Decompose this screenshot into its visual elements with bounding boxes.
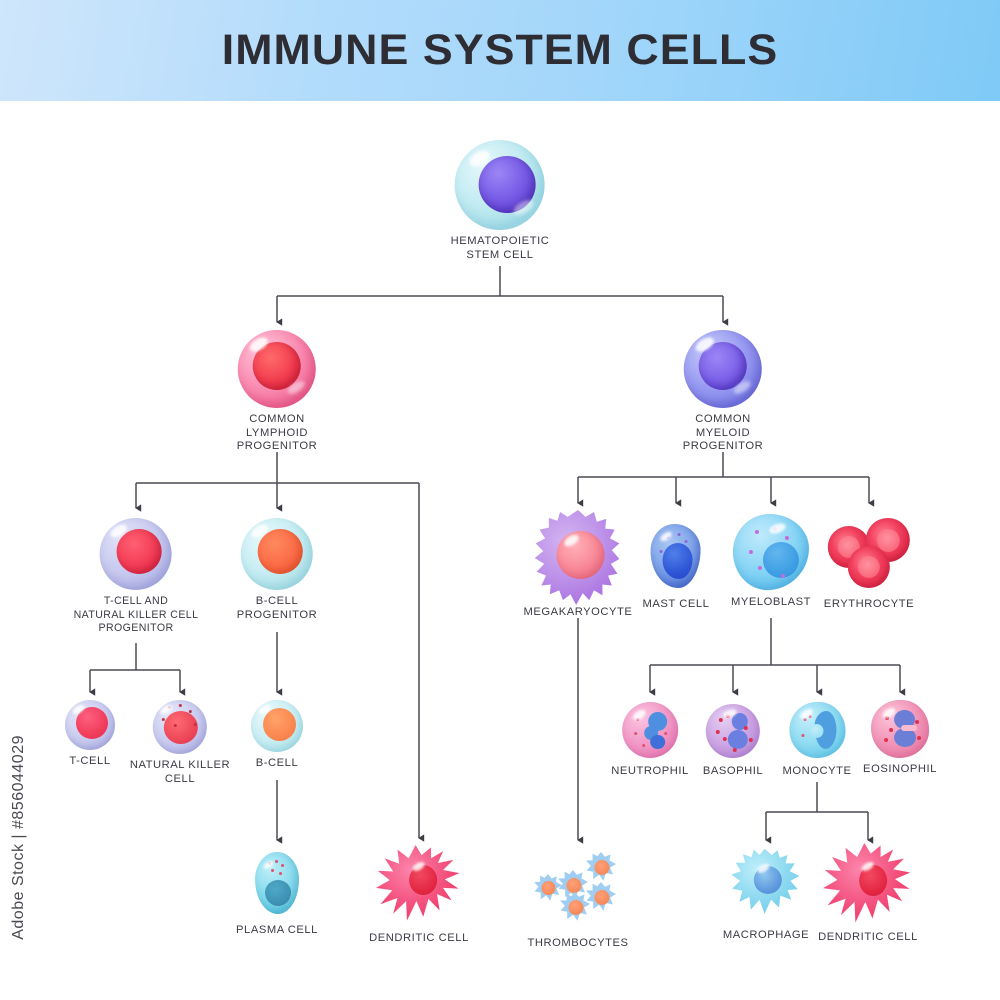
- node-basophil[interactable]: BASOPHIL: [703, 704, 763, 779]
- cell-art-dendritic-cell-myeloid: [823, 843, 913, 925]
- node-label: COMMON MYELOID PROGENITOR: [683, 413, 764, 454]
- node-tcell-nk-progenitor[interactable]: T-CELL AND NATURAL KILLER CELL PROGENITO…: [74, 518, 199, 636]
- node-common-myeloid-progenitor[interactable]: COMMON MYELOID PROGENITOR: [683, 330, 764, 454]
- page-title: IMMUNE SYSTEM CELLS: [0, 0, 1000, 101]
- node-label: ERYTHROCYTE: [824, 598, 914, 612]
- node-natural-killer-cell[interactable]: NATURAL KILLER CELL: [130, 700, 230, 786]
- node-plasma-cell[interactable]: PLASMA CELL: [236, 852, 318, 938]
- node-label: THROMBOCYTES: [527, 937, 628, 951]
- cell-art-mast-cell: [651, 524, 701, 588]
- cell-art-tcell-nk-progenitor: [100, 518, 172, 590]
- node-eosinophil[interactable]: EOSINOPHIL: [863, 700, 937, 777]
- node-dendritic-cell-myeloid[interactable]: DENDRITIC CELL: [818, 843, 918, 945]
- diagram-canvas: IMMUNE SYSTEM CELLS: [0, 0, 1000, 1000]
- node-dendritic-cell-lymphoid[interactable]: DENDRITIC CELL: [369, 845, 469, 946]
- node-bcell[interactable]: B-CELL: [251, 700, 303, 771]
- cell-art-myeloblast: [733, 514, 809, 590]
- cell-art-hematopoietic-stem-cell: [455, 140, 545, 230]
- node-mast-cell[interactable]: MAST CELL: [643, 524, 710, 612]
- node-label: MYELOBLAST: [731, 596, 811, 610]
- header-banner: IMMUNE SYSTEM CELLS: [0, 0, 1000, 101]
- cell-art-eosinophil: [871, 700, 929, 758]
- node-label: PLASMA CELL: [236, 924, 318, 938]
- node-myeloblast[interactable]: MYELOBLAST: [731, 514, 811, 610]
- node-megakaryocyte[interactable]: MEGAKARYOCYTE: [524, 510, 633, 620]
- cell-art-macrophage: [730, 848, 802, 918]
- node-label: HEMATOPOIETIC STEM CELL: [451, 235, 550, 262]
- node-monocyte[interactable]: MONOCYTE: [782, 702, 851, 779]
- cell-art-bcell-progenitor: [241, 518, 313, 590]
- node-label: MONOCYTE: [782, 765, 851, 779]
- cell-art-megakaryocyte: [531, 510, 625, 608]
- node-label: T-CELL: [65, 755, 115, 769]
- node-label: COMMON LYMPHOID PROGENITOR: [237, 413, 318, 454]
- node-label: B-CELL: [251, 757, 303, 771]
- node-label: NEUTROPHIL: [611, 765, 689, 779]
- cell-art-erythrocyte: [828, 518, 910, 588]
- cell-art-natural-killer-cell: [153, 700, 207, 754]
- node-label: DENDRITIC CELL: [369, 932, 469, 946]
- node-macrophage[interactable]: MACROPHAGE: [723, 848, 809, 943]
- cell-art-tcell: [65, 700, 115, 750]
- node-erythrocyte[interactable]: ERYTHROCYTE: [824, 518, 914, 612]
- node-label: T-CELL AND NATURAL KILLER CELL PROGENITO…: [74, 595, 199, 636]
- node-label: MACROPHAGE: [723, 929, 809, 943]
- cell-art-neutrophil: [622, 702, 678, 758]
- node-label: DENDRITIC CELL: [818, 931, 918, 945]
- node-label: BASOPHIL: [703, 765, 763, 779]
- watermark-text: Adobe Stock | #856044029: [10, 735, 28, 940]
- cell-art-dendritic-cell-lymphoid: [376, 845, 462, 923]
- node-label: NATURAL KILLER CELL: [130, 759, 230, 786]
- cell-art-monocyte: [789, 702, 845, 758]
- cell-art-thrombocytes: [530, 852, 626, 924]
- node-bcell-progenitor[interactable]: B-CELL PROGENITOR: [237, 518, 318, 622]
- cell-art-bcell: [251, 700, 303, 752]
- node-hematopoietic-stem-cell[interactable]: HEMATOPOIETIC STEM CELL: [451, 140, 550, 262]
- cell-art-common-myeloid-progenitor: [684, 330, 762, 408]
- cell-art-plasma-cell: [255, 852, 299, 914]
- node-label: MAST CELL: [643, 598, 710, 612]
- cell-art-common-lymphoid-progenitor: [238, 330, 316, 408]
- node-tcell[interactable]: T-CELL: [65, 700, 115, 769]
- node-neutrophil[interactable]: NEUTROPHIL: [611, 702, 689, 779]
- node-label: EOSINOPHIL: [863, 763, 937, 777]
- node-label: B-CELL PROGENITOR: [237, 595, 318, 622]
- cell-art-basophil: [706, 704, 760, 758]
- node-label: MEGAKARYOCYTE: [524, 606, 633, 620]
- node-thrombocytes[interactable]: THROMBOCYTES: [527, 852, 628, 951]
- node-common-lymphoid-progenitor[interactable]: COMMON LYMPHOID PROGENITOR: [237, 330, 318, 454]
